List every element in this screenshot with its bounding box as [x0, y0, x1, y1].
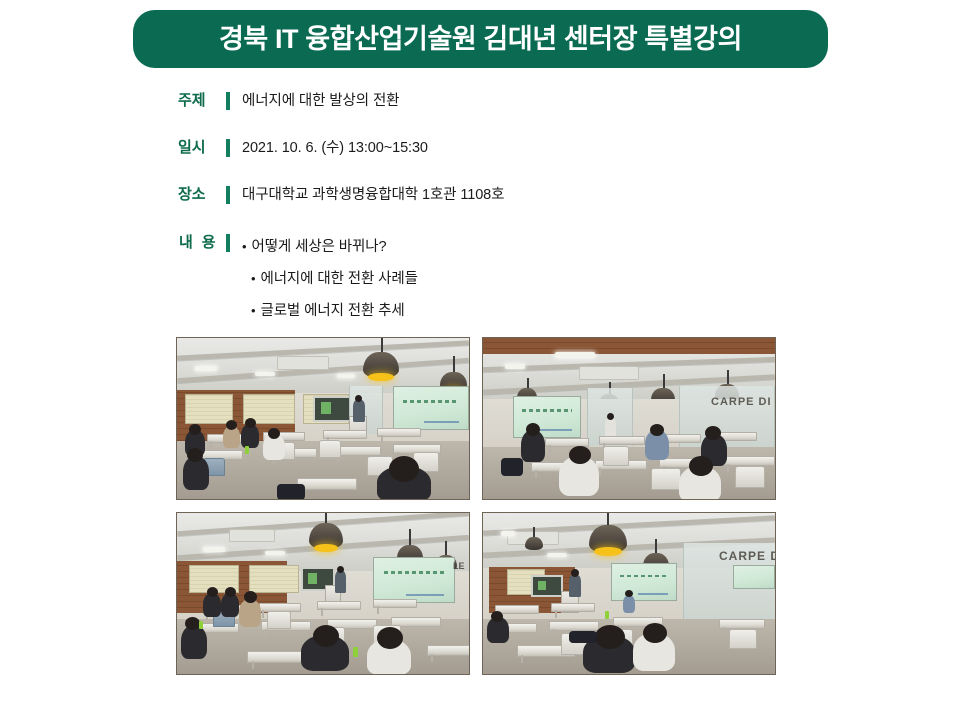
divider-bar [226, 139, 230, 157]
photo-top-left [176, 337, 470, 500]
page-title: 경북 IT 융합산업기술원 김대년 센터장 특별강의 [219, 26, 742, 53]
list-item-label: 글로벌 에너지 전환 추세 [260, 303, 404, 319]
value-subject: 에너지에 대한 발상의 전환 [242, 88, 399, 112]
slide-page: 경북 IT 융합산업기술원 김대년 센터장 특별강의 주제 에너지에 대한 발상… [0, 0, 960, 720]
info-row-content: 내용 •어떻게 세상은 바뀌나? •에너지에 대한 전환 사례들 •글로벌 에너… [178, 230, 818, 327]
divider-bar [226, 234, 230, 252]
bullet-marker: • [251, 271, 255, 286]
photo-grid: CARPE DI [176, 337, 776, 675]
bullet-marker: • [251, 303, 255, 318]
label-datetime: 일시 [178, 135, 226, 159]
label-location: 장소 [178, 182, 226, 206]
list-item: •글로벌 에너지 전환 추세 [242, 295, 418, 327]
divider-bar [226, 92, 230, 110]
info-row-location: 장소 대구대학교 과학생명융합대학 1호관 1108호 [178, 182, 818, 229]
list-item: •어떻게 세상은 바뀌나? [242, 231, 418, 263]
info-row-subject: 주제 에너지에 대한 발상의 전환 [178, 88, 818, 135]
label-content: 내용 [178, 230, 226, 254]
info-block: 주제 에너지에 대한 발상의 전환 일시 2021. 10. 6. (수) 13… [178, 88, 818, 327]
content-bullet-list: •어떻게 세상은 바뀌나? •에너지에 대한 전환 사례들 •글로벌 에너지 전… [242, 230, 418, 327]
list-item-label: 에너지에 대한 전환 사례들 [260, 271, 417, 287]
bullet-marker: • [242, 239, 246, 254]
value-location: 대구대학교 과학생명융합대학 1호관 1108호 [242, 182, 504, 206]
info-row-datetime: 일시 2021. 10. 6. (수) 13:00~15:30 [178, 135, 818, 182]
value-datetime: 2021. 10. 6. (수) 13:00~15:30 [242, 135, 428, 159]
label-subject: 주제 [178, 88, 226, 112]
photo-top-right: CARPE DI [482, 337, 776, 500]
photo-bottom-right: CARPE D [482, 512, 776, 675]
list-item: •에너지에 대한 전환 사례들 [242, 263, 418, 295]
photo-bottom-left: LE [176, 512, 470, 675]
divider-bar [226, 186, 230, 204]
title-banner: 경북 IT 융합산업기술원 김대년 센터장 특별강의 [133, 10, 828, 68]
list-item-label: 어떻게 세상은 바뀌나? [251, 239, 386, 255]
